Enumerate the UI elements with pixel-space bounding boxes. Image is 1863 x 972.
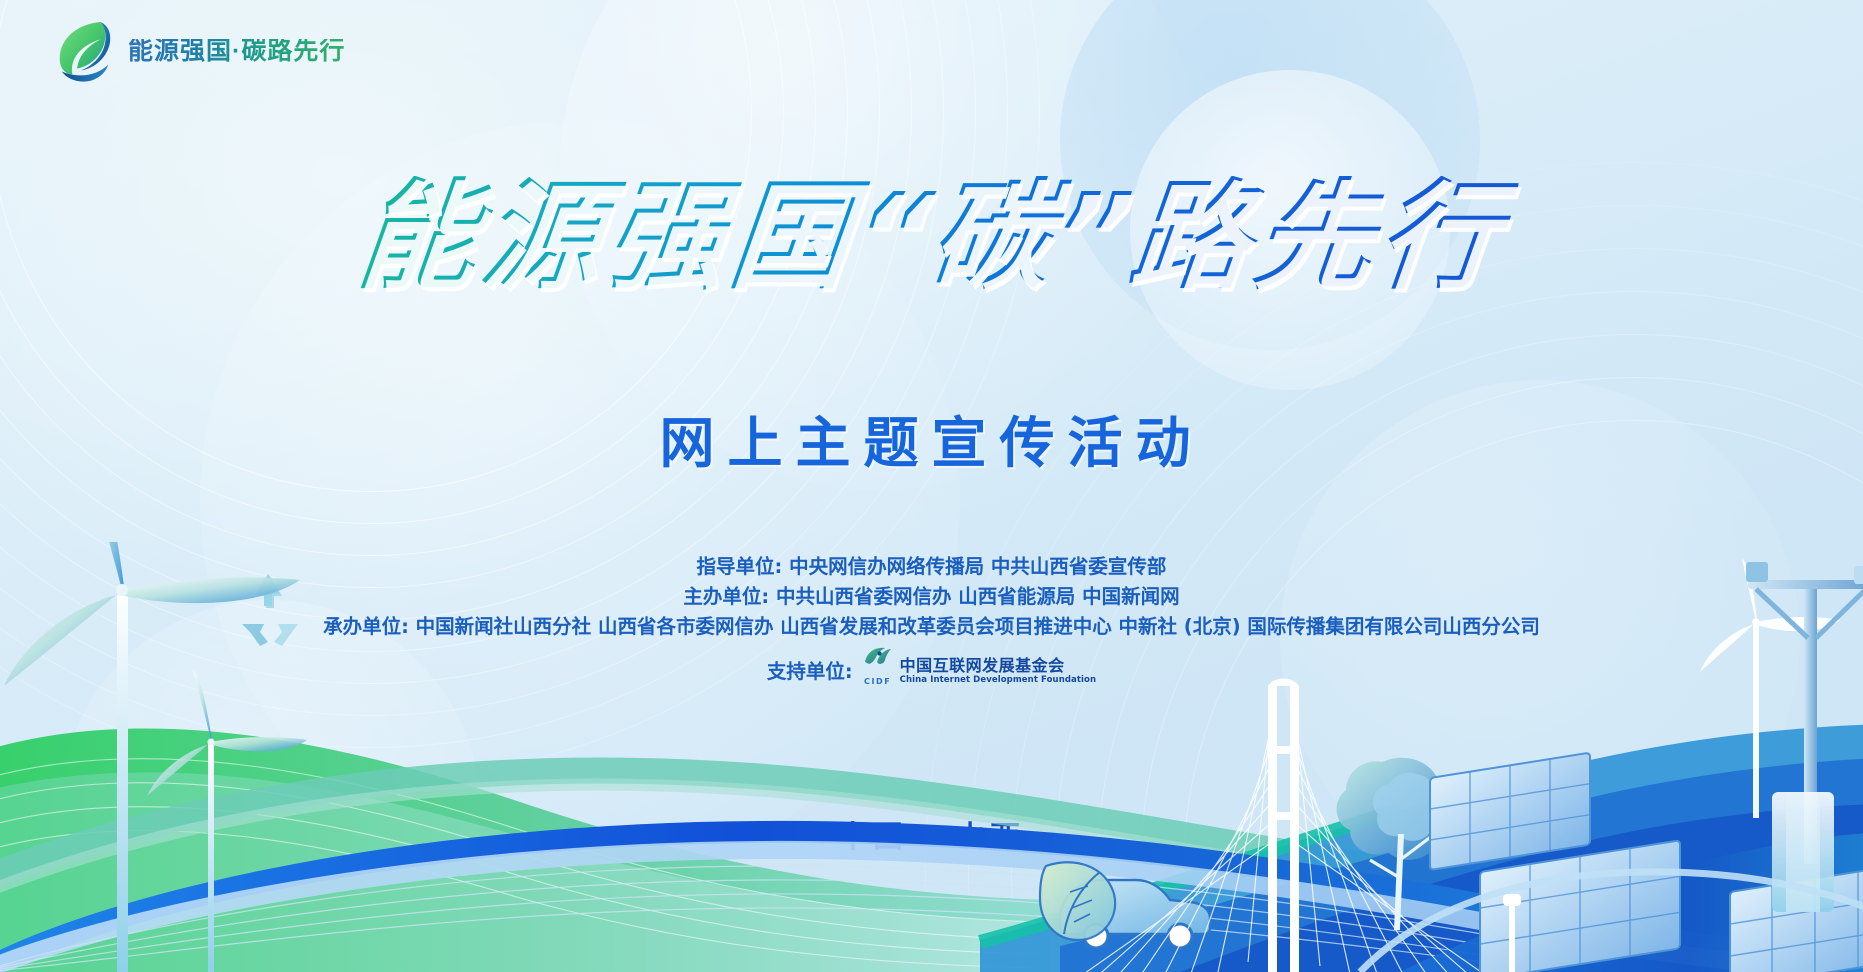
poster-canvas: 能源强国·碳路先行 能源强国“碳”路先行 网上主题宣传活动 指导单位: 中央网信…: [0, 0, 1863, 972]
title-part-2: 碳: [924, 167, 1063, 305]
brand-text: 能源强国·碳路先行: [128, 39, 345, 64]
title-part-1: 能源强国: [352, 167, 863, 305]
page-title: 能源强国“碳”路先行: [343, 176, 1520, 296]
leaf-logo-icon: [52, 18, 114, 84]
illustration-svg: [0, 542, 1863, 972]
main-title-wrap: 能源强国“碳”路先行: [0, 176, 1863, 296]
title-part-3: 路先行: [1124, 167, 1511, 305]
brand-logo: 能源强国·碳路先行: [52, 18, 345, 84]
page-subtitle: 网上主题宣传活动: [0, 398, 1863, 478]
bottom-illustration: [0, 542, 1863, 972]
